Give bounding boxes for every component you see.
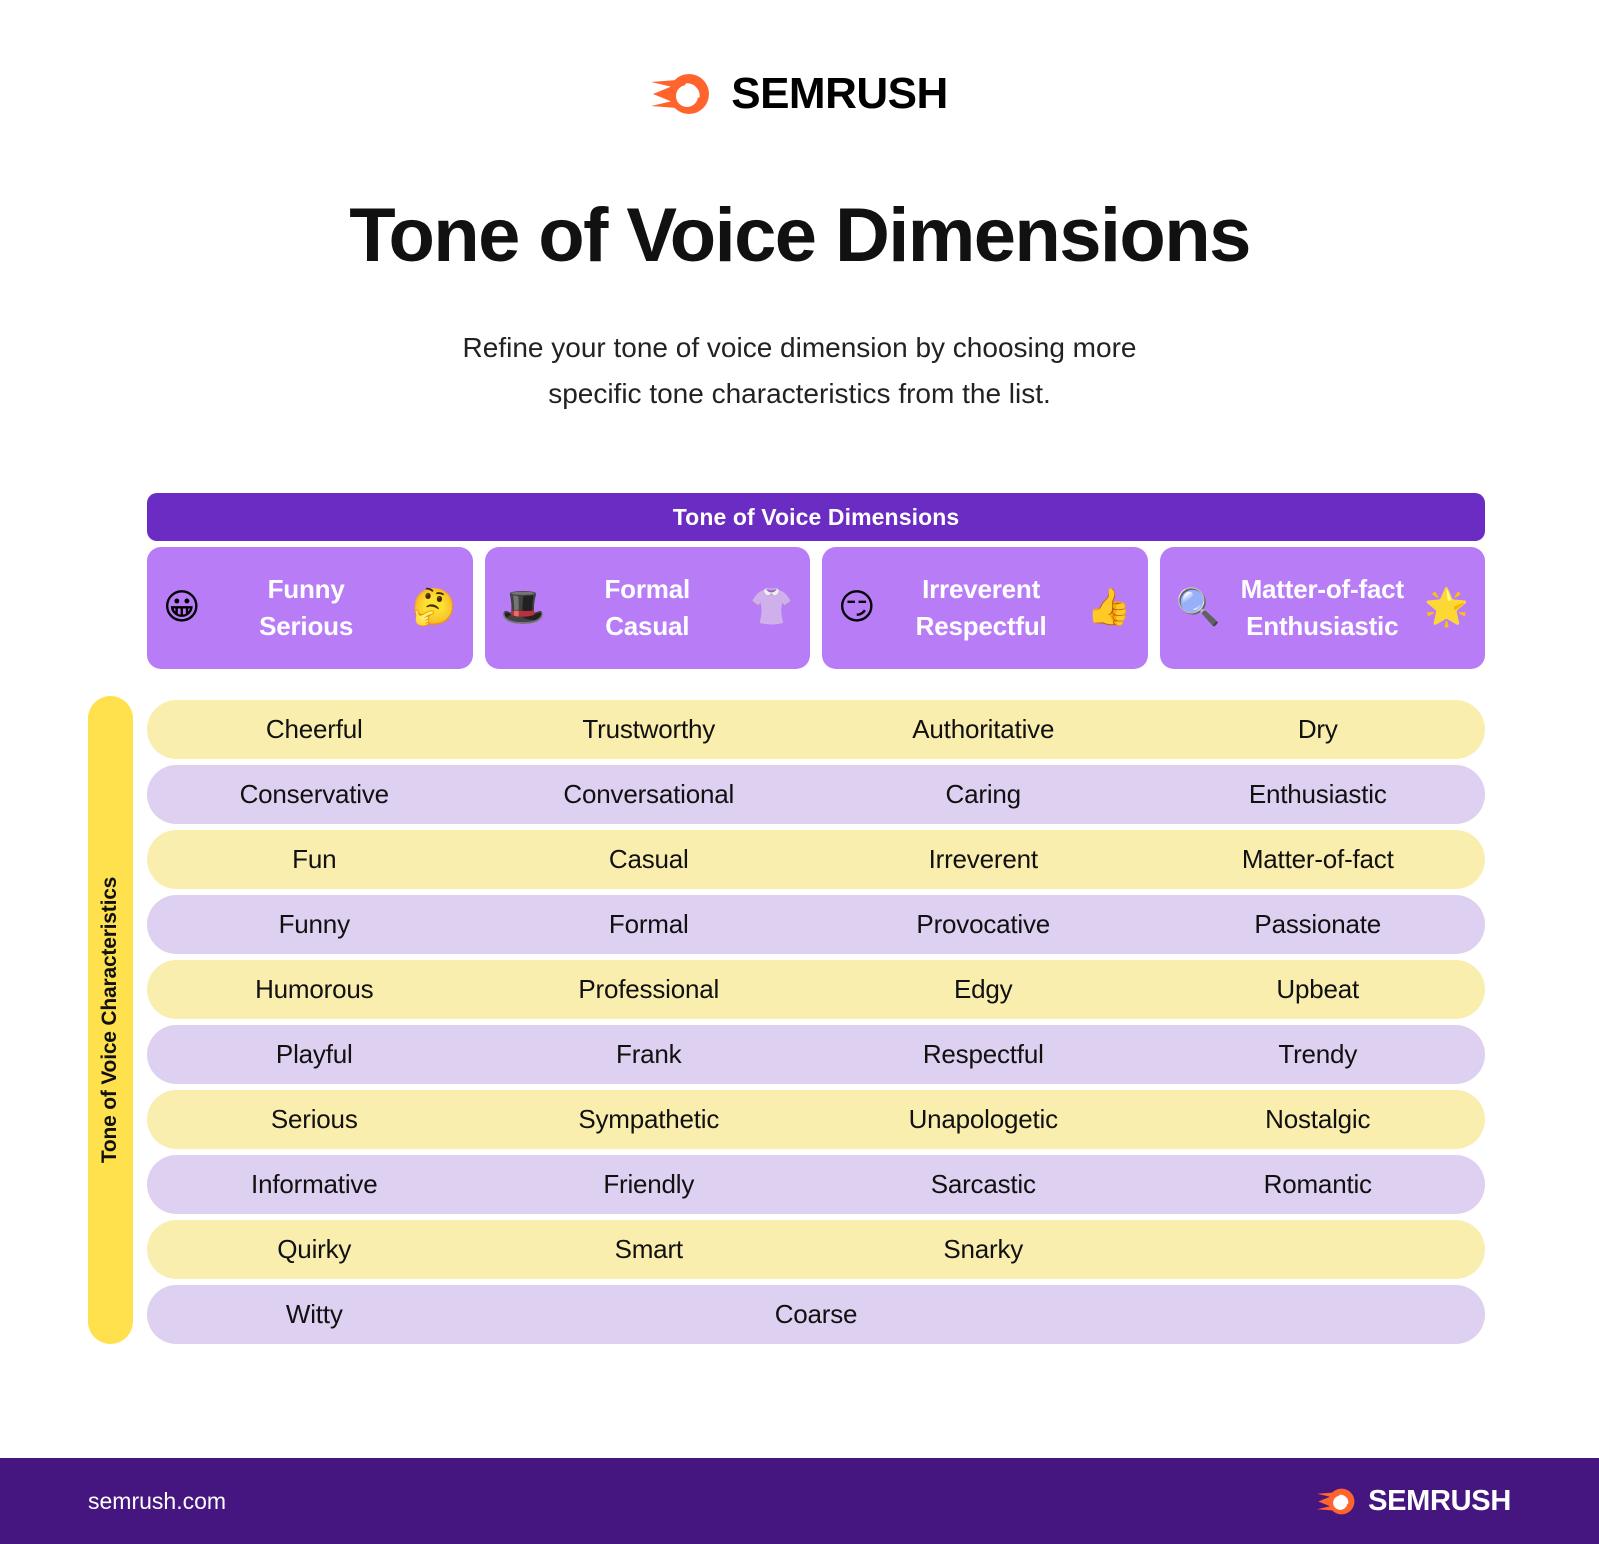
dimension-label-bottom: Serious: [259, 611, 353, 641]
semrush-comet-icon: [651, 72, 713, 116]
dimension-label-top: Formal: [605, 574, 690, 604]
table-row: Informative Friendly Sarcastic Romantic: [147, 1155, 1485, 1214]
characteristic-cell[interactable]: Snarky: [816, 1234, 1151, 1265]
characteristic-cell[interactable]: Professional: [482, 974, 817, 1005]
semrush-comet-icon: [1317, 1487, 1357, 1516]
dimension-label-top: Irreverent: [922, 574, 1040, 604]
dimension-label-bottom: Respectful: [916, 611, 1047, 641]
characteristic-cell[interactable]: Edgy: [816, 974, 1151, 1005]
page-subtitle: Refine your tone of voice dimension by c…: [0, 325, 1599, 417]
dimension-card-labels: Irreverent Respectful: [876, 571, 1087, 645]
dimension-label-bottom: Enthusiastic: [1246, 611, 1398, 641]
characteristic-cell[interactable]: Respectful: [816, 1039, 1151, 1070]
dimension-card-labels: Formal Casual: [545, 571, 749, 645]
table-row: Playful Frank Respectful Trendy: [147, 1025, 1485, 1084]
characteristic-cell[interactable]: Playful: [147, 1039, 482, 1070]
page-footer: semrush.com SEMRUSH: [0, 1458, 1599, 1544]
characteristics-axis-label: Tone of Voice Characteristics: [88, 696, 133, 1344]
characteristic-cell[interactable]: Upbeat: [1151, 974, 1486, 1005]
dimension-label-top: Funny: [268, 574, 345, 604]
characteristic-cell[interactable]: Informative: [147, 1169, 482, 1200]
dimension-card-irreverent-respectful[interactable]: 😏 Irreverent Respectful 👍: [822, 547, 1148, 669]
characteristic-cell[interactable]: Conservative: [147, 779, 482, 810]
characteristic-cell[interactable]: Nostalgic: [1151, 1104, 1486, 1135]
brand-header: SEMRUSH: [0, 72, 1599, 116]
characteristic-cell[interactable]: Authoritative: [816, 714, 1151, 745]
characteristic-cell[interactable]: Dry: [1151, 714, 1486, 745]
table-row: Witty Coarse: [147, 1285, 1485, 1344]
footer-wordmark: SEMRUSH: [1368, 1487, 1511, 1516]
dimension-card-labels: Funny Serious: [201, 571, 412, 645]
characteristic-cell[interactable]: Provocative: [816, 909, 1151, 940]
characteristic-cell[interactable]: Funny: [147, 909, 482, 940]
table-row: Conservative Conversational Caring Enthu…: [147, 765, 1485, 824]
characteristic-cell[interactable]: Formal: [482, 909, 817, 940]
dimension-label-top: Matter-of-fact: [1241, 574, 1404, 604]
dimension-card-formal-casual[interactable]: 🎩 Formal Casual 👚: [485, 547, 811, 669]
dimension-card-funny-serious[interactable]: 😀 Funny Serious 🤔: [147, 547, 473, 669]
characteristic-cell[interactable]: Passionate: [1151, 909, 1486, 940]
top-hat-icon: 🎩: [501, 590, 546, 626]
characteristic-cell[interactable]: Cheerful: [147, 714, 482, 745]
characteristic-cell[interactable]: Witty: [147, 1299, 482, 1330]
characteristic-cell[interactable]: Smart: [482, 1234, 817, 1265]
characteristic-cell[interactable]: Coarse: [482, 1299, 1151, 1330]
characteristic-cell[interactable]: Frank: [482, 1039, 817, 1070]
smirking-face-icon: 😏: [838, 590, 876, 626]
characteristic-cell[interactable]: Trustworthy: [482, 714, 817, 745]
grinning-face-icon: 😀: [163, 590, 201, 626]
infographic-page: SEMRUSH Tone of Voice Dimensions Refine …: [0, 0, 1599, 1544]
characteristic-cell[interactable]: Trendy: [1151, 1039, 1486, 1070]
characteristic-cell[interactable]: Enthusiastic: [1151, 779, 1486, 810]
tone-matrix-header: Tone of Voice Dimensions 😀 Funny Serious…: [147, 493, 1485, 669]
dimension-cards: 😀 Funny Serious 🤔 🎩 Formal Casual 👚 😏: [147, 547, 1485, 669]
characteristic-cell[interactable]: Casual: [482, 844, 817, 875]
thinking-face-icon: 🤔: [412, 590, 457, 626]
table-row: Cheerful Trustworthy Authoritative Dry: [147, 700, 1485, 759]
characteristic-cell[interactable]: Romantic: [1151, 1169, 1486, 1200]
brand-wordmark: SEMRUSH: [731, 72, 948, 116]
characteristic-cell[interactable]: Quirky: [147, 1234, 482, 1265]
dimension-card-labels: Matter-of-fact Enthusiastic: [1220, 571, 1424, 645]
glowing-star-icon: 🌟: [1424, 590, 1469, 626]
subtitle-line-1: Refine your tone of voice dimension by c…: [0, 325, 1599, 371]
characteristic-cell[interactable]: Friendly: [482, 1169, 817, 1200]
characteristic-cell[interactable]: Humorous: [147, 974, 482, 1005]
characteristic-cell[interactable]: Matter-of-fact: [1151, 844, 1486, 875]
characteristic-cell[interactable]: Sympathetic: [482, 1104, 817, 1135]
characteristic-cell[interactable]: Fun: [147, 844, 482, 875]
womans-clothes-icon: 👚: [749, 590, 794, 626]
subtitle-line-2: specific tone characteristics from the l…: [0, 371, 1599, 417]
dimension-label-bottom: Casual: [605, 611, 689, 641]
characteristic-cell[interactable]: Serious: [147, 1104, 482, 1135]
characteristic-cell[interactable]: Unapologetic: [816, 1104, 1151, 1135]
table-row: Humorous Professional Edgy Upbeat: [147, 960, 1485, 1019]
footer-brand: SEMRUSH: [1317, 1487, 1511, 1516]
table-row: Serious Sympathetic Unapologetic Nostalg…: [147, 1090, 1485, 1149]
characteristics-area: Tone of Voice Characteristics Cheerful T…: [0, 696, 1599, 1356]
axis-label-text: Tone of Voice Characteristics: [99, 877, 123, 1163]
footer-url[interactable]: semrush.com: [88, 1488, 226, 1515]
characteristic-cell[interactable]: Caring: [816, 779, 1151, 810]
thumbs-up-icon: 👍: [1087, 590, 1132, 626]
page-title: Tone of Voice Dimensions: [0, 196, 1599, 276]
dimension-card-matteroffact-enthusiastic[interactable]: 🔍 Matter-of-fact Enthusiastic 🌟: [1160, 547, 1486, 669]
characteristic-cell[interactable]: Conversational: [482, 779, 817, 810]
dimensions-banner: Tone of Voice Dimensions: [147, 493, 1485, 541]
table-row: Quirky Smart Snarky: [147, 1220, 1485, 1279]
table-row: Fun Casual Irreverent Matter-of-fact: [147, 830, 1485, 889]
magnifying-glass-icon: 🔍: [1176, 590, 1221, 626]
characteristics-rows: Cheerful Trustworthy Authoritative Dry C…: [147, 700, 1485, 1344]
characteristic-cell[interactable]: Sarcastic: [816, 1169, 1151, 1200]
table-row: Funny Formal Provocative Passionate: [147, 895, 1485, 954]
characteristic-cell[interactable]: Irreverent: [816, 844, 1151, 875]
